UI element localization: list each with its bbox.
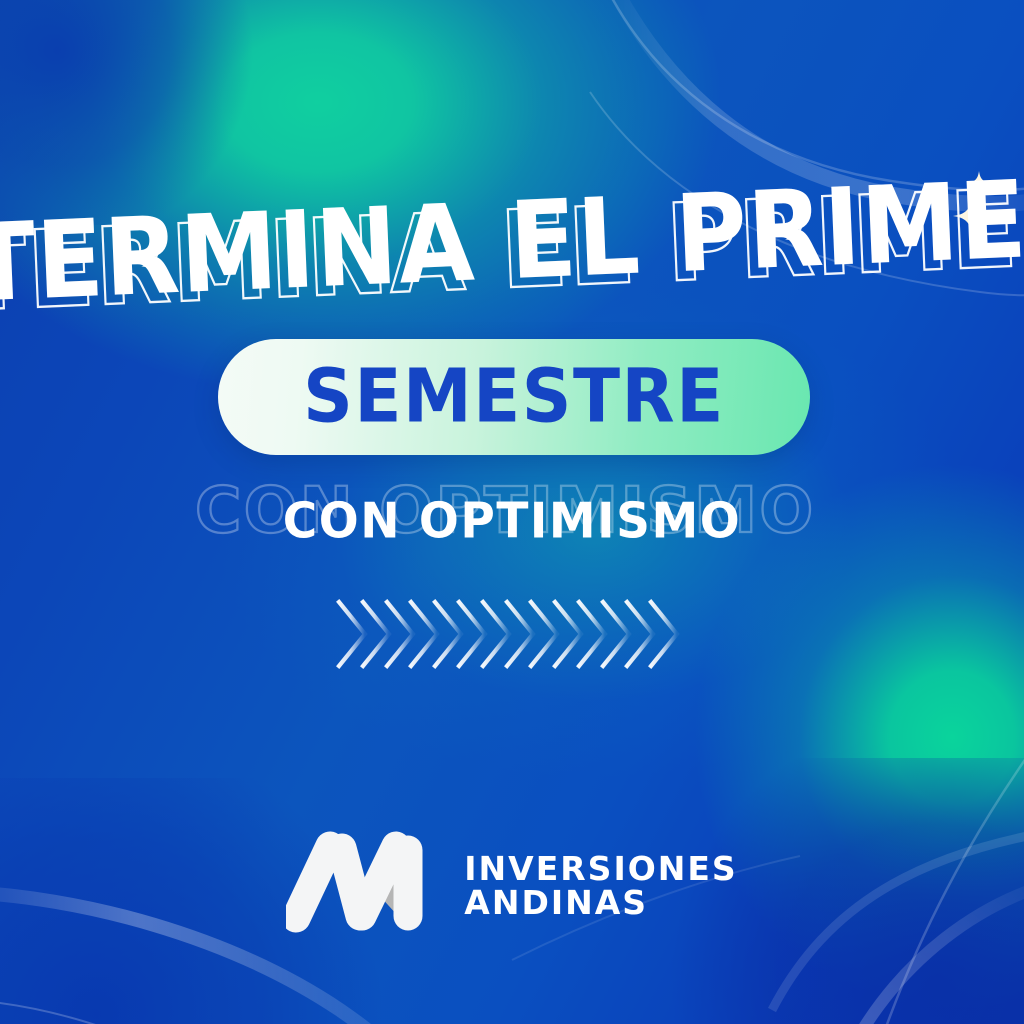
semester-badge-label: SEMESTRE [303, 360, 725, 434]
brand-line-1: INVERSIONES [464, 852, 737, 886]
promo-poster: TERMINA EL PRIMER TERMINA EL PRIMER SEME… [0, 0, 1024, 1024]
curve-bottom-left-thin [0, 1000, 220, 1024]
chevron-icon [339, 602, 365, 666]
inversiones-andinas-logo-icon [286, 830, 438, 942]
subtitle-text: CON OPTIMISMO [0, 497, 1024, 546]
brand-name: INVERSIONES ANDINAS [464, 852, 737, 920]
semester-badge: SEMESTRE [218, 339, 810, 455]
brand-line-2: ANDINAS [464, 886, 737, 920]
chevron-arrow-row [335, 596, 695, 672]
subtitle: CON OPTIMISMO CON OPTIMISMO [0, 486, 1024, 576]
logo-block: INVERSIONES ANDINAS [0, 826, 1024, 946]
